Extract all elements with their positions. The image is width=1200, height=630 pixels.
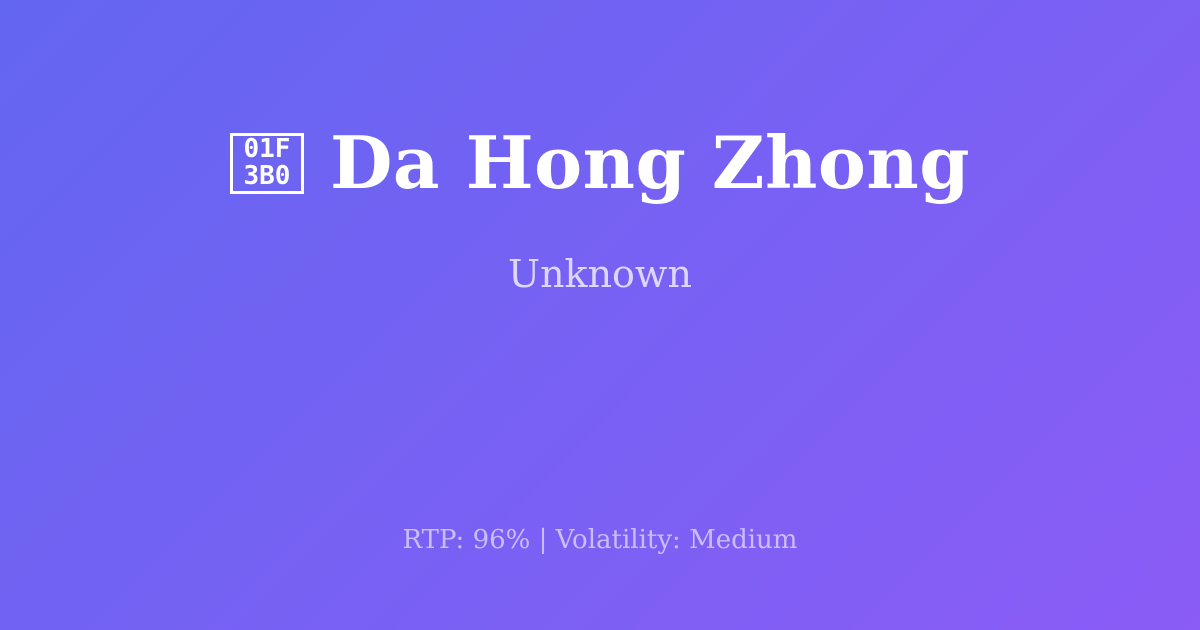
tofu-hex-top: 01F [243, 136, 290, 163]
game-meta-stats: RTP: 96% | Volatility: Medium [0, 527, 1200, 553]
game-headline: 01F 3B0 Da Hong Zhong [230, 127, 970, 199]
tofu-hex-bottom: 3B0 [243, 163, 290, 190]
slot-machine-icon: 01F 3B0 [230, 133, 304, 194]
page-title: Da Hong Zhong [330, 127, 970, 199]
card-header-block: 01F 3B0 Da Hong Zhong Unknown [0, 0, 1200, 420]
game-provider: Unknown [508, 255, 692, 293]
game-preview-card: 01F 3B0 Da Hong Zhong Unknown RTP: 96% |… [0, 0, 1200, 630]
